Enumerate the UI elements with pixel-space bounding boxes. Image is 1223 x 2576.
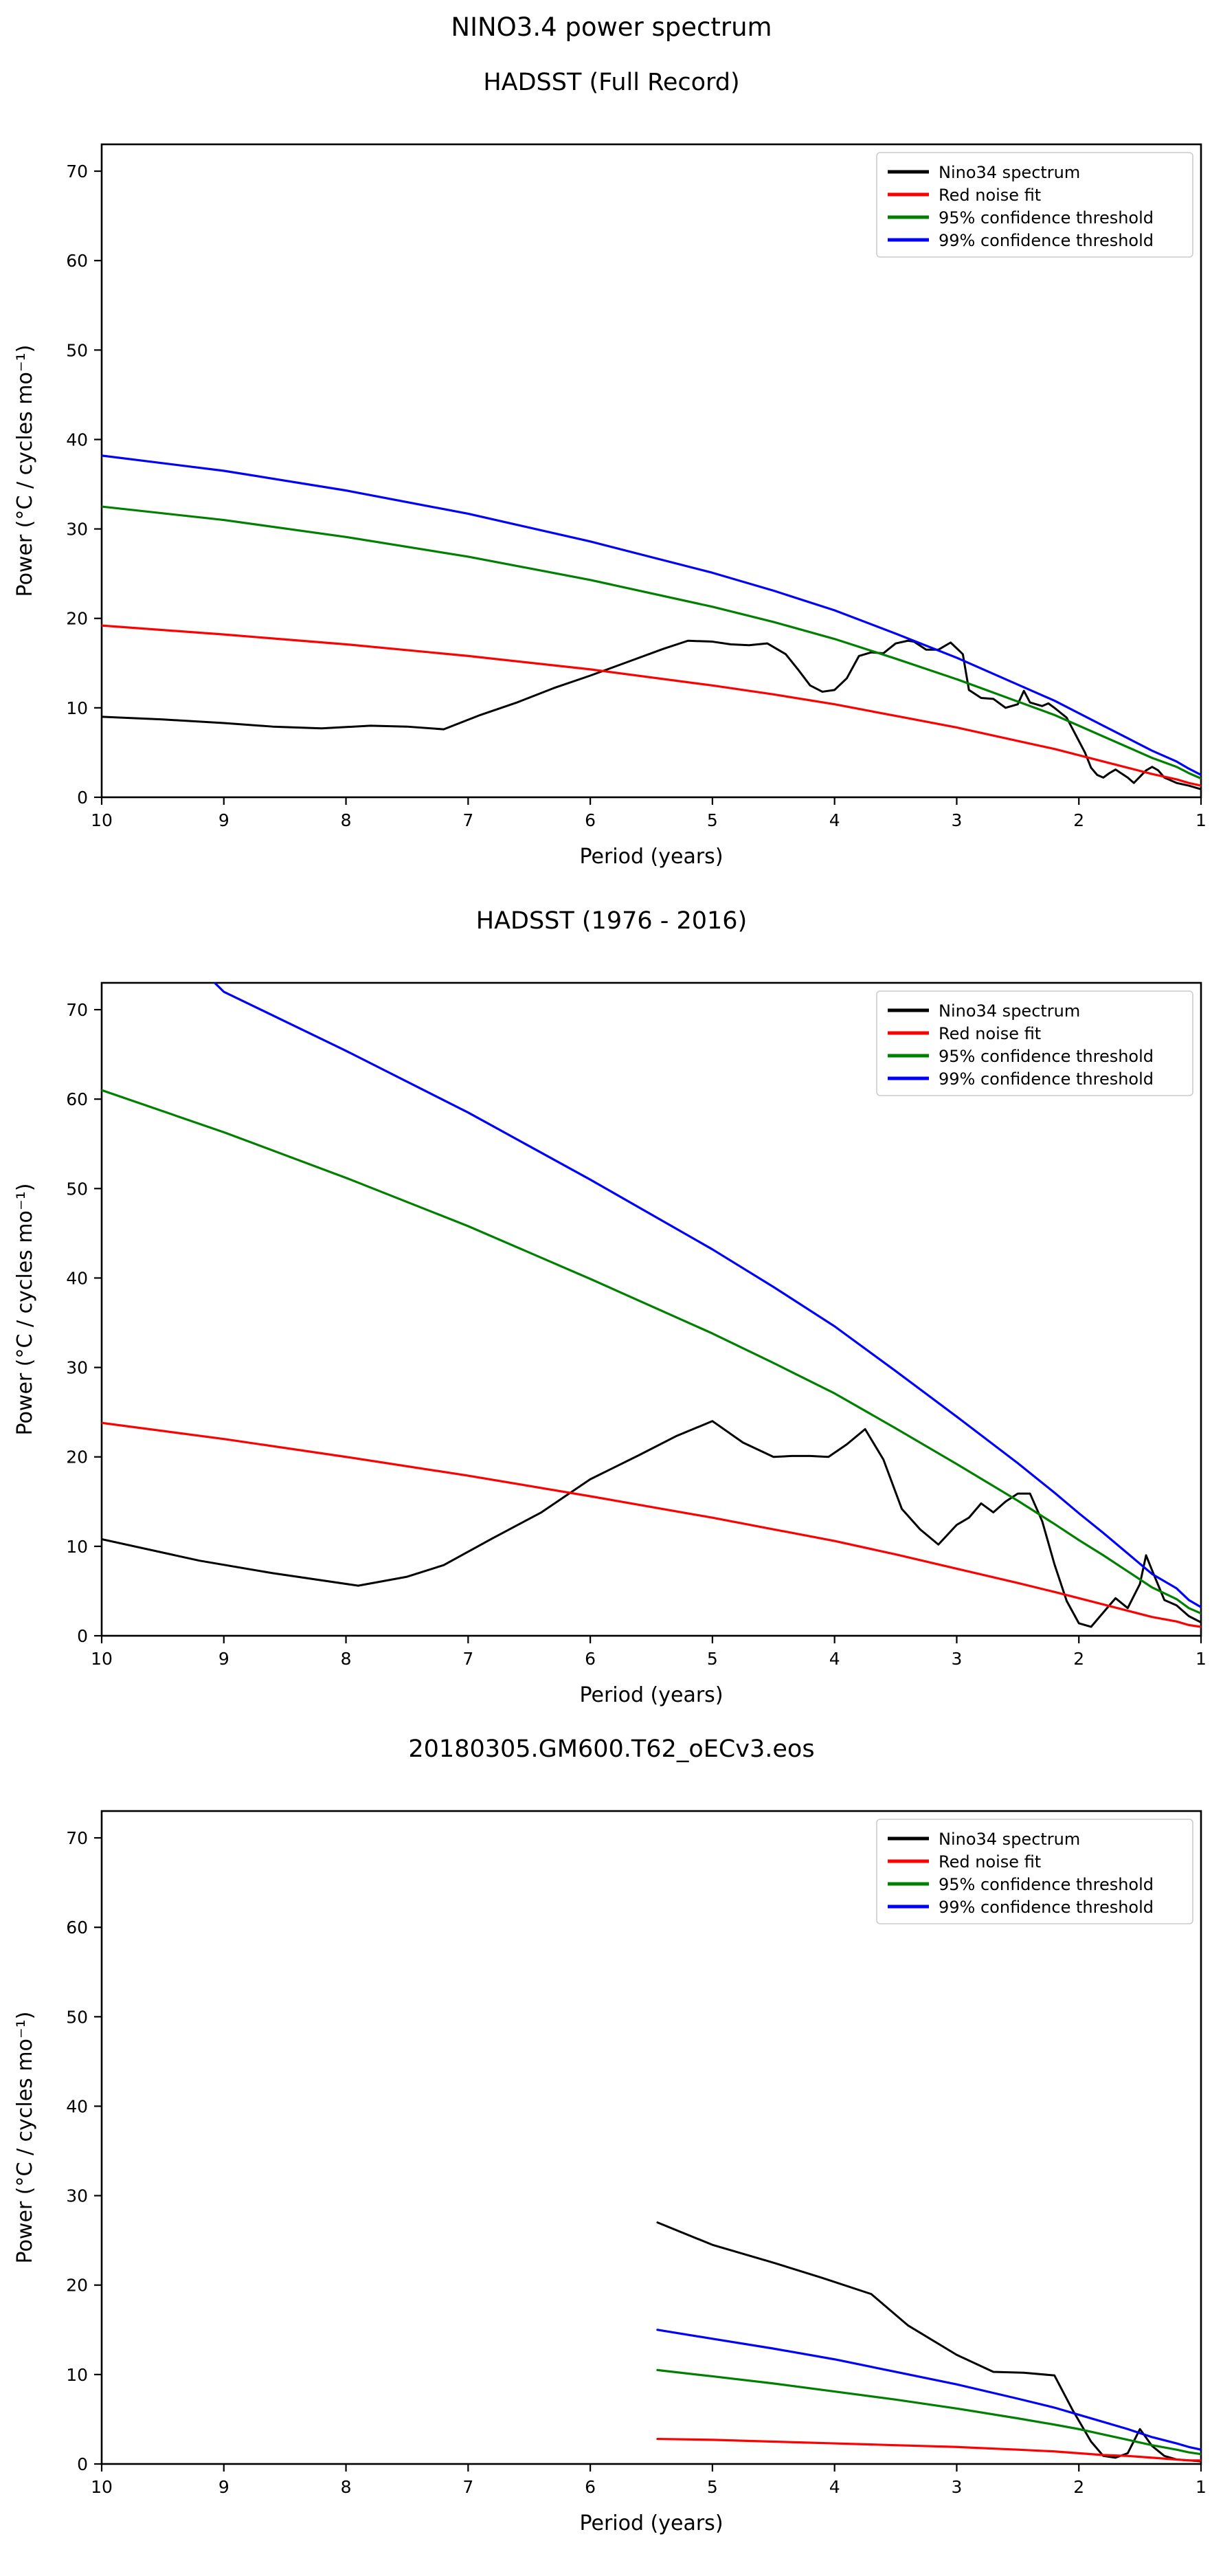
figure-suptitle: NINO3.4 power spectrum [0,12,1223,42]
plot-area: 01020304050607010987654321Period (years)… [0,102,1223,885]
x-tick-label: 6 [585,2477,596,2497]
y-tick-label: 70 [66,1000,88,1020]
panel-title: HADSST (Full Record) [0,69,1223,96]
legend-label: Red noise fit [939,186,1041,205]
x-tick-label: 10 [91,2477,113,2497]
y-tick-label: 10 [66,2365,88,2385]
x-tick-label: 10 [91,1649,113,1669]
legend-label: 95% confidence threshold [939,1875,1154,1894]
y-tick-label: 60 [66,1089,88,1109]
panel-title: HADSST (1976 - 2016) [0,907,1223,935]
legend-label: Nino34 spectrum [939,1830,1080,1849]
x-tick-label: 2 [1073,2477,1084,2497]
x-tick-label: 1 [1196,2477,1207,2497]
x-axis-label: Period (years) [579,845,723,869]
y-tick-label: 0 [77,2454,88,2474]
plot-area: 01020304050607010987654321Period (years)… [0,1768,1223,2552]
x-tick-label: 10 [91,810,113,830]
x-tick-label: 8 [341,810,352,830]
panel-title: 20180305.GM600.T62_oECv3.eos [0,1735,1223,1763]
x-axis-label: Period (years) [579,1683,723,1707]
chart-panel-1: HADSST (Full Record)01020304050607010987… [0,69,1223,893]
legend-label: 95% confidence threshold [939,208,1154,227]
plot-area: 01020304050607010987654321Period (years)… [0,940,1223,1724]
legend-label: 99% confidence threshold [939,231,1154,250]
y-tick-label: 60 [66,1918,88,1937]
x-tick-label: 4 [829,2477,840,2497]
legend-label: Red noise fit [939,1852,1041,1872]
legend-label: Nino34 spectrum [939,163,1080,182]
y-tick-label: 30 [66,520,88,540]
legend: Nino34 spectrumRed noise fit95% confiden… [877,1819,1193,1924]
legend-label: 95% confidence threshold [939,1047,1154,1066]
x-tick-label: 5 [707,2477,718,2497]
x-tick-label: 1 [1196,810,1207,830]
x-tick-label: 9 [218,2477,229,2497]
chart-panel-3: 20180305.GM600.T62_oECv3.eos010203040506… [0,1735,1223,2560]
x-tick-label: 9 [218,810,229,830]
x-tick-label: 8 [341,2477,352,2497]
legend: Nino34 spectrumRed noise fit95% confiden… [877,153,1193,257]
x-tick-label: 7 [462,2477,473,2497]
x-tick-label: 4 [829,1649,840,1669]
x-tick-label: 3 [951,2477,962,2497]
y-tick-label: 40 [66,2096,88,2116]
x-tick-label: 7 [462,1649,473,1669]
y-tick-label: 40 [66,430,88,449]
y-tick-label: 10 [66,698,88,718]
x-tick-label: 6 [585,810,596,830]
y-tick-label: 70 [66,1828,88,1848]
y-tick-label: 50 [66,2007,88,2027]
y-tick-label: 30 [66,2186,88,2206]
x-tick-label: 3 [951,810,962,830]
x-tick-label: 3 [951,1649,962,1669]
legend-label: Red noise fit [939,1024,1041,1043]
figure-canvas: NINO3.4 power spectrum HADSST (Full Reco… [0,0,1223,2576]
y-tick-label: 0 [77,788,88,808]
y-tick-label: 0 [77,1626,88,1646]
y-tick-label: 50 [66,340,88,360]
y-axis-label: Power (°C / cycles mo⁻¹) [13,2012,37,2264]
legend: Nino34 spectrumRed noise fit95% confiden… [877,991,1193,1096]
x-tick-label: 8 [341,1649,352,1669]
legend-label: Nino34 spectrum [939,1001,1080,1021]
y-tick-label: 40 [66,1268,88,1288]
y-tick-label: 30 [66,1358,88,1378]
y-tick-label: 60 [66,251,88,271]
y-tick-label: 50 [66,1179,88,1199]
y-axis-label: Power (°C / cycles mo⁻¹) [13,345,37,597]
y-tick-label: 20 [66,609,88,629]
x-tick-label: 2 [1073,1649,1084,1669]
y-tick-label: 10 [66,1537,88,1557]
legend-label: 99% confidence threshold [939,1898,1154,1917]
x-tick-label: 9 [218,1649,229,1669]
x-tick-label: 5 [707,1649,718,1669]
chart-panel-2: HADSST (1976 - 2016)01020304050607010987… [0,907,1223,1732]
y-tick-label: 20 [66,2276,88,2296]
legend-label: 99% confidence threshold [939,1069,1154,1089]
x-tick-label: 6 [585,1649,596,1669]
y-tick-label: 70 [66,162,88,181]
y-axis-label: Power (°C / cycles mo⁻¹) [13,1184,37,1436]
x-tick-label: 2 [1073,810,1084,830]
x-axis-label: Period (years) [579,2511,723,2535]
x-tick-label: 7 [462,810,473,830]
x-tick-label: 4 [829,810,840,830]
x-tick-label: 1 [1196,1649,1207,1669]
y-tick-label: 20 [66,1447,88,1467]
x-tick-label: 5 [707,810,718,830]
